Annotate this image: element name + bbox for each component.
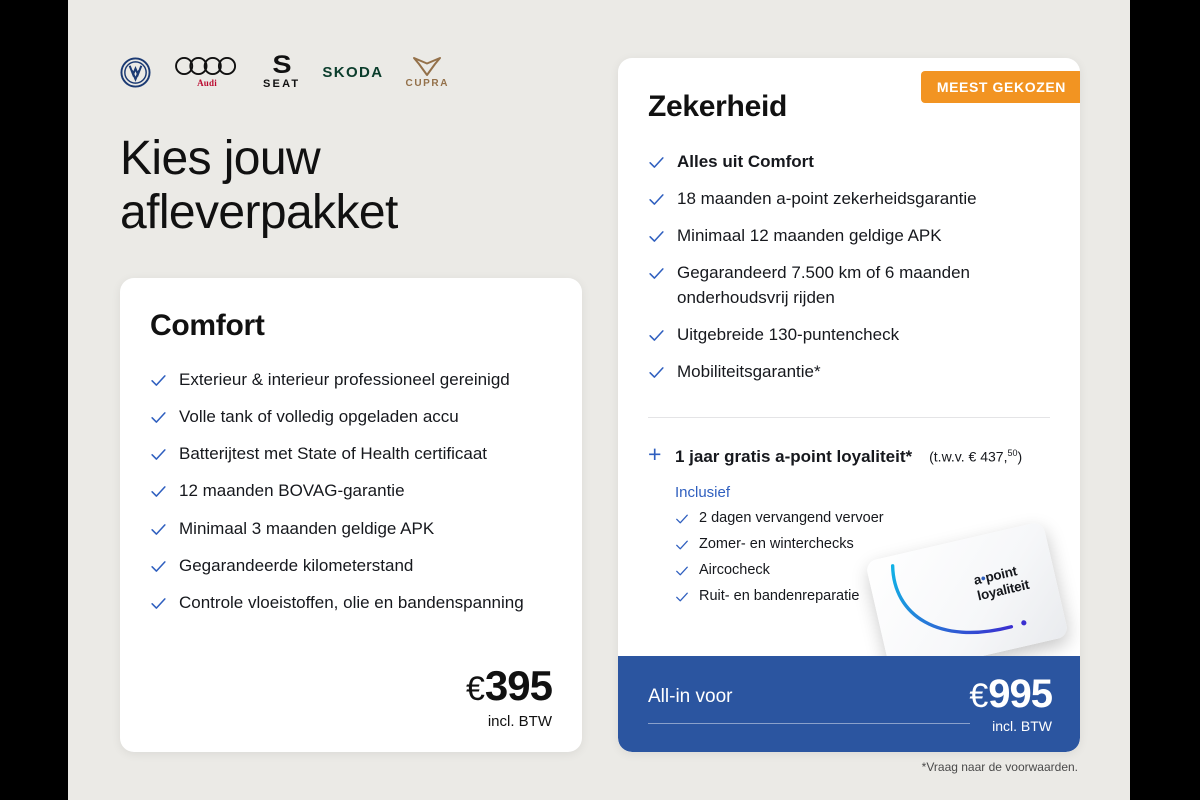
feature-label: 18 maanden a-point zekerheidsgarantie <box>677 187 977 211</box>
feature-label: Exterieur & interieur professioneel gere… <box>179 368 510 392</box>
zekerheid-title: Zekerheid <box>648 90 787 124</box>
allin-label: All-in voor <box>648 686 732 708</box>
feature-label: Gegarandeerde kilometerstand <box>179 554 413 578</box>
page-canvas: Audi S SEAT SKODA CUPRA Kies jouw afleve… <box>68 0 1130 800</box>
check-icon <box>675 564 689 578</box>
page-title-line-1: Kies jouw <box>120 132 320 185</box>
loyalty-value-prefix: (t.w.v. € 437, <box>929 449 1007 465</box>
comfort-feature-list: Exterieur & interieur professioneel gere… <box>150 368 550 615</box>
most-chosen-badge: MEEST GEKOZEN <box>921 71 1080 103</box>
list-item: Uitgebreide 130-puntencheck <box>648 323 1048 347</box>
check-icon <box>150 372 167 389</box>
zekerheid-divider <box>648 417 1050 418</box>
comfort-price-block: €395 incl. BTW <box>466 665 552 730</box>
package-card-comfort[interactable]: Comfort Exterieur & interieur profession… <box>120 278 582 752</box>
check-icon <box>648 191 665 208</box>
screenshot-stage: Audi S SEAT SKODA CUPRA Kies jouw afleve… <box>0 0 1200 800</box>
feature-label: Uitgebreide 130-puntencheck <box>677 323 899 347</box>
feature-label: Controle vloeistoffen, olie en bandenspa… <box>179 591 524 615</box>
feature-label: 12 maanden BOVAG-garantie <box>179 479 405 503</box>
list-item: 2 dagen vervangend vervoer <box>675 509 1050 528</box>
allin-price-note: incl. BTW <box>969 718 1052 734</box>
cupra-wordmark: CUPRA <box>406 78 450 89</box>
list-item: Exterieur & interieur professioneel gere… <box>150 368 550 392</box>
loyalty-value-cents: 50 <box>1007 448 1017 458</box>
list-item: Minimaal 3 maanden geldige APK <box>150 517 550 541</box>
loyalty-header-row: + 1 jaar gratis a-point loyaliteit* (t.w… <box>648 443 1050 467</box>
page-title-line-2: afleverpakket <box>120 186 398 239</box>
check-icon <box>150 409 167 426</box>
allin-price: €995 <box>969 674 1052 714</box>
feature-label: Minimaal 3 maanden geldige APK <box>179 517 434 541</box>
check-icon <box>648 228 665 245</box>
audi-wordmark: Audi <box>197 78 217 88</box>
page-title: Kies jouw afleverpakket <box>120 132 580 240</box>
feature-label: Zomer- en winterchecks <box>699 535 854 554</box>
list-item: Volle tank of volledig opgeladen accu <box>150 405 550 429</box>
feature-label: Mobiliteitsgarantie* <box>677 360 821 384</box>
audi-rings-icon <box>173 56 241 76</box>
zekerheid-feature-list: Alles uit Comfort18 maanden a-point zeke… <box>648 150 1048 384</box>
comfort-price: €395 <box>466 665 552 707</box>
loyalty-value: (t.w.v. € 437,50) <box>929 448 1022 465</box>
feature-label: 2 dagen vervangend vervoer <box>699 509 884 528</box>
feature-label: Aircocheck <box>699 561 770 580</box>
check-icon <box>150 483 167 500</box>
check-icon <box>150 446 167 463</box>
allin-price-amount: 995 <box>988 672 1052 716</box>
loyalty-value-suffix: ) <box>1017 449 1022 465</box>
feature-label: Minimaal 12 maanden geldige APK <box>677 224 942 248</box>
feature-label: Ruit- en bandenreparatie <box>699 587 859 606</box>
audi-logo: Audi <box>173 56 241 88</box>
allin-rule <box>648 723 970 724</box>
brand-logo-strip: Audi S SEAT SKODA CUPRA <box>120 52 449 92</box>
seat-s-icon: S <box>264 55 299 77</box>
volkswagen-logo <box>120 57 151 88</box>
list-item: Batterijtest met State of Health certifi… <box>150 442 550 466</box>
inclusief-label: Inclusief <box>675 484 1050 501</box>
comfort-title: Comfort <box>150 309 265 343</box>
volkswagen-icon <box>120 57 151 88</box>
check-icon <box>675 512 689 526</box>
list-item: 18 maanden a-point zekerheidsgarantie <box>648 187 1048 211</box>
check-icon <box>150 595 167 612</box>
check-icon <box>150 558 167 575</box>
footnote: *Vraag naar de voorwaarden. <box>922 760 1078 774</box>
list-item: Minimaal 12 maanden geldige APK <box>648 224 1048 248</box>
feature-label: Batterijtest met State of Health certifi… <box>179 442 487 466</box>
allin-currency-symbol: € <box>969 677 987 715</box>
list-item: Controle vloeistoffen, olie en bandenspa… <box>150 591 550 615</box>
check-icon <box>648 265 665 282</box>
package-card-zekerheid[interactable]: MEEST GEKOZEN Zekerheid Alles uit Comfor… <box>618 58 1080 752</box>
allin-price-bar: All-in voor €995 incl. BTW <box>618 656 1080 752</box>
comfort-currency-symbol: € <box>466 670 484 708</box>
feature-label: Volle tank of volledig opgeladen accu <box>179 405 459 429</box>
check-icon <box>648 327 665 344</box>
list-item: 12 maanden BOVAG-garantie <box>150 479 550 503</box>
list-item: Gegarandeerd 7.500 km of 6 maanden onder… <box>648 261 1048 309</box>
feature-label: Gegarandeerd 7.500 km of 6 maanden onder… <box>677 261 1048 309</box>
check-icon <box>675 538 689 552</box>
seat-logo: S SEAT <box>263 55 300 90</box>
list-item: Mobiliteitsgarantie* <box>648 360 1048 384</box>
cupra-logo: CUPRA <box>406 55 450 89</box>
loyalty-title: 1 jaar gratis a-point loyaliteit* <box>675 447 912 467</box>
check-icon <box>648 154 665 171</box>
feature-label: Alles uit Comfort <box>677 150 814 174</box>
skoda-logo: SKODA <box>322 64 383 81</box>
cupra-emblem-icon <box>412 55 442 77</box>
check-icon <box>150 521 167 538</box>
comfort-price-amount: 395 <box>485 662 552 709</box>
skoda-wordmark: SKODA <box>322 64 383 81</box>
list-item: Gegarandeerde kilometerstand <box>150 554 550 578</box>
seat-wordmark: SEAT <box>263 78 300 90</box>
check-icon <box>648 364 665 381</box>
check-icon <box>675 590 689 604</box>
comfort-price-note: incl. BTW <box>466 713 552 730</box>
allin-price-block: €995 incl. BTW <box>969 674 1052 734</box>
list-item: Alles uit Comfort <box>648 150 1048 174</box>
plus-icon: + <box>648 443 664 466</box>
